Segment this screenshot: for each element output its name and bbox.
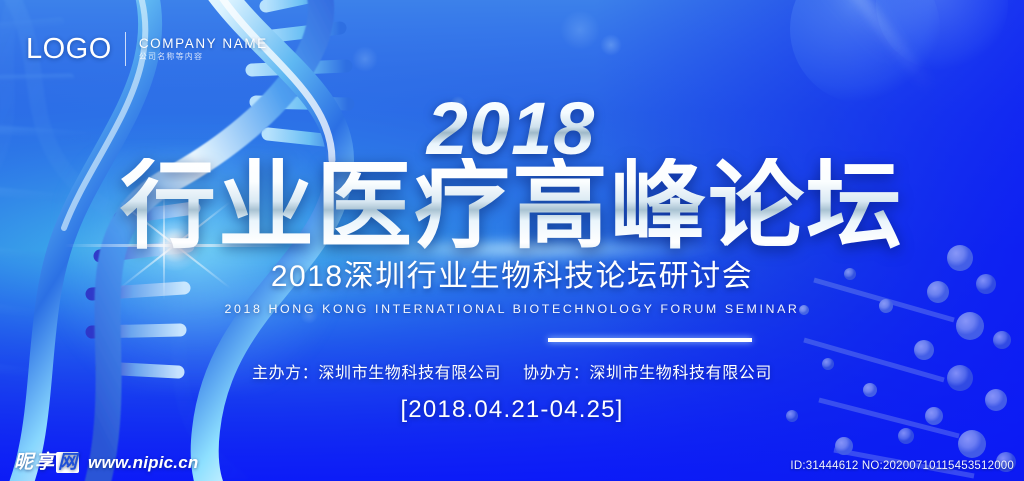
watermark-logo-cn: 昵 享 网	[14, 452, 79, 473]
company-name-en: COMPANY NAME	[139, 37, 268, 51]
event-headline: 行业医疗高峰论坛	[0, 158, 1024, 256]
watermark-char-2: 享	[35, 453, 54, 472]
logo-mark: LOGO	[26, 35, 112, 64]
company-name-cn: 公司名称等内容	[139, 53, 268, 61]
logo-bar[interactable]: LOGO COMPANY NAME 公司名称等内容	[26, 32, 268, 66]
subtitle-en: 2018 HONG KONG INTERNATIONAL BIOTECHNOLO…	[0, 303, 1024, 315]
watermark-char-3-boxed: 网	[56, 452, 79, 473]
logo-text-block: COMPANY NAME 公司名称等内容	[139, 37, 268, 62]
subtitle-cn: 2018深圳行业生物科技论坛研讨会	[0, 262, 1024, 292]
asset-id-label: ID:31444612 NO:20200710115453512000	[790, 461, 1014, 473]
watermark-url[interactable]: www.nipic.cn	[88, 454, 198, 471]
logo-divider	[125, 32, 126, 66]
host-label: 主办方：	[252, 365, 318, 382]
watermark-char-1: 昵	[14, 453, 33, 472]
co-organizer-name: 深圳市生物科技有限公司	[589, 365, 772, 382]
section-divider	[548, 338, 752, 342]
co-organizer-label: 协办方：	[523, 365, 589, 382]
banner-canvas: LOGO COMPANY NAME 公司名称等内容 2018 行业医疗高峰论坛 …	[0, 0, 1024, 481]
organizer-line: 主办方：深圳市生物科技有限公司协办方：深圳市生物科技有限公司	[0, 366, 1024, 382]
site-watermark[interactable]: 昵 享 网 www.nipic.cn	[14, 452, 198, 473]
event-dates: [2018.04.21-04.25]	[0, 398, 1024, 422]
host-name: 深圳市生物科技有限公司	[318, 365, 501, 382]
